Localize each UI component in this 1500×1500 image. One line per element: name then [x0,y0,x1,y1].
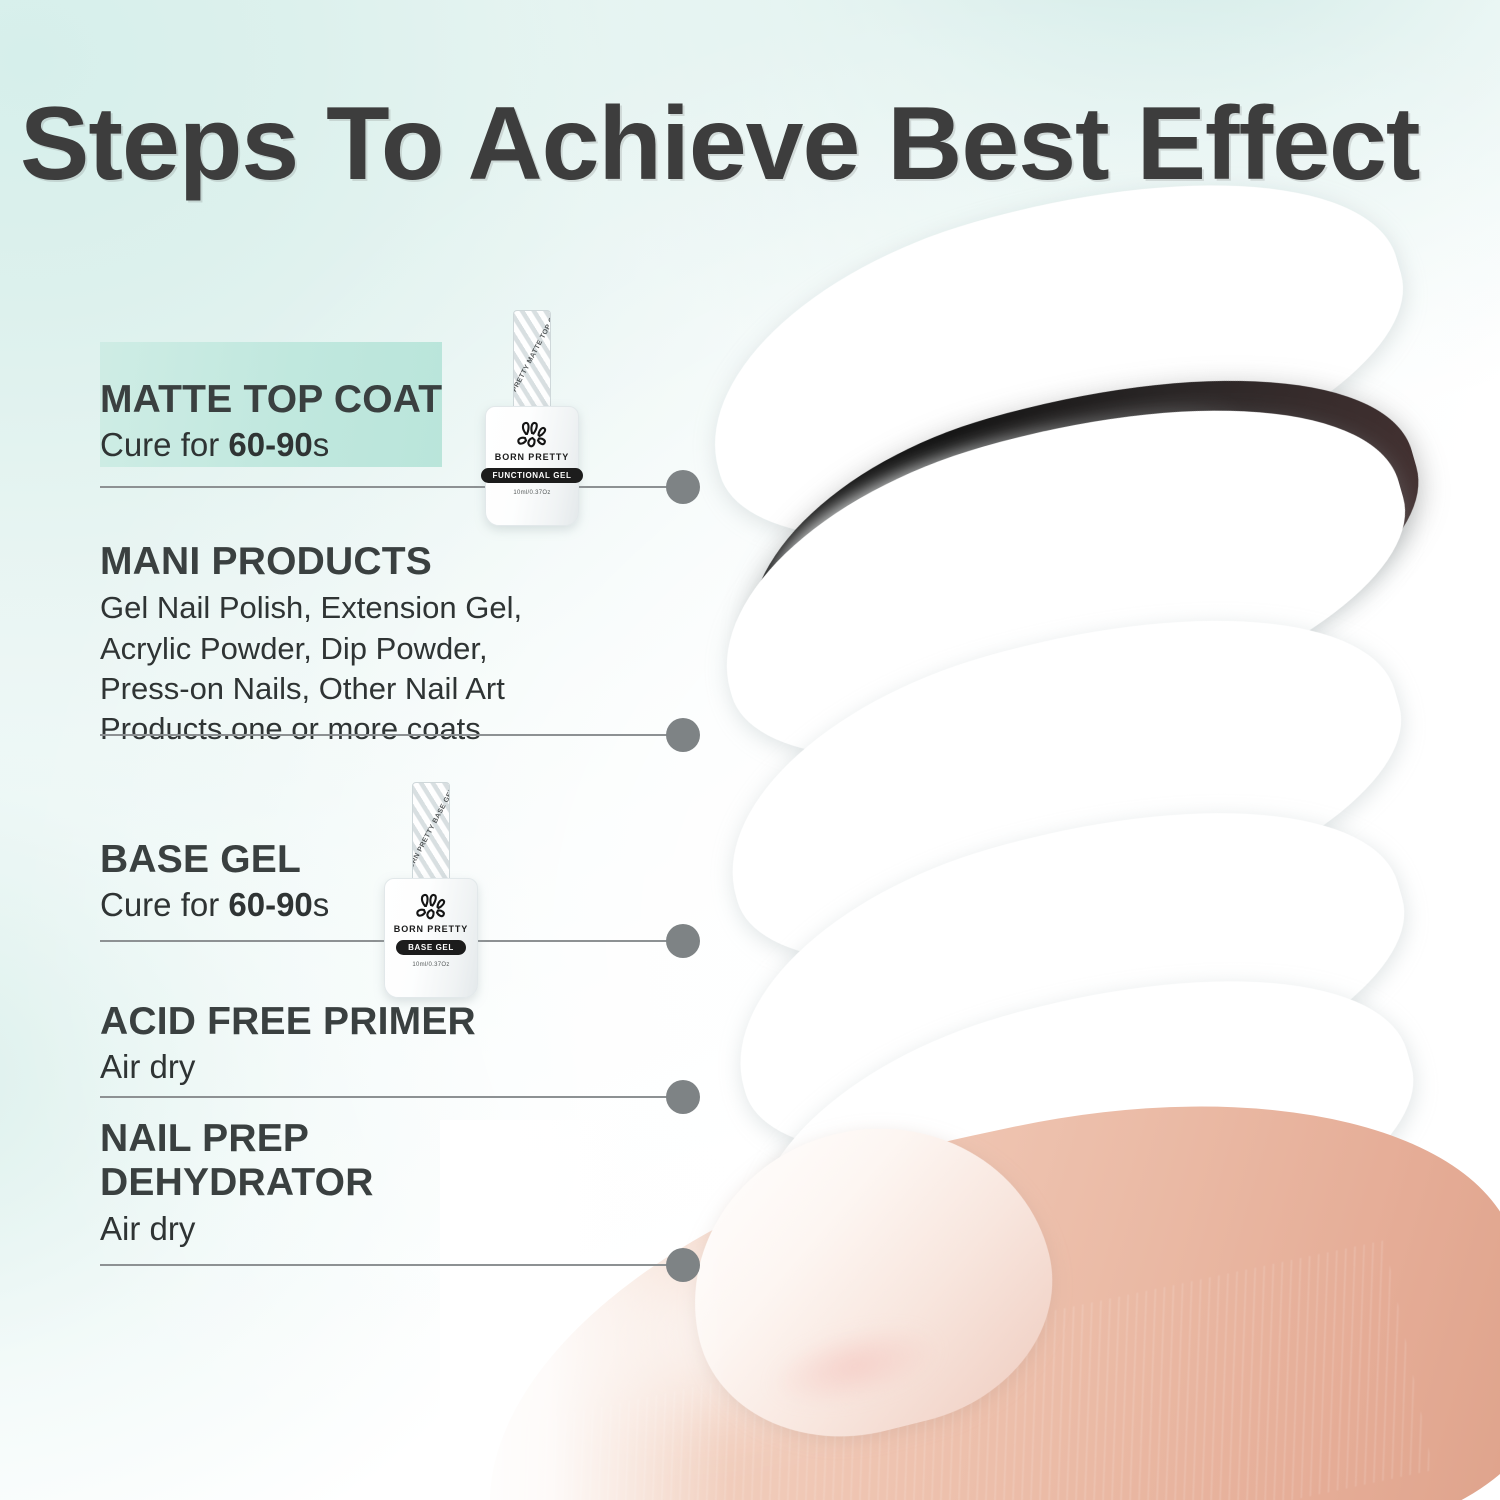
connector-matte-top-coat [100,470,700,504]
step-sub-strong: 60-90 [228,886,312,923]
connector-line [100,1096,668,1098]
connector-nail-prep-dehydrator [100,1248,700,1282]
step-matte-top-coat[interactable]: MATTE TOP COAT Cure for 60-90s [100,378,442,466]
connector-line [100,1264,668,1266]
step-heading: MATTE TOP COAT [100,378,442,422]
step-base-gel[interactable]: BASE GEL Cure for 60-90s [100,838,329,926]
step-sub-suffix: s [313,426,330,463]
bottle-cap-text: BORN PRETTY BASE GEL [412,782,450,880]
step-sub-prefix: Cure for [100,426,228,463]
born-pretty-flower-logo-icon [411,893,451,921]
step-subtext: Air dry [100,1208,374,1250]
connector-dot [666,718,700,752]
bottle-body: BORN PRETTY FUNCTIONAL GEL 10ml/0.37Oz [485,406,579,526]
step-nail-prep-dehydrator[interactable]: NAIL PREP DEHYDRATOR Air dry [100,1117,374,1249]
bottle-base-gel: BORN PRETTY BASE GEL BORN PRETTY BASE GE… [382,782,480,998]
bottle-cap: BORN PRETTY BASE GEL [412,782,450,880]
connector-acid-free-primer [100,1080,700,1114]
connector-line [100,486,668,488]
step-sub-prefix: Cure for [100,886,228,923]
born-pretty-flower-logo-icon [512,421,552,449]
connector-mani-products [100,718,700,752]
step-heading: BASE GEL [100,838,329,882]
step-acid-free-primer[interactable]: ACID FREE PRIMER Air dry [100,1000,476,1088]
infographic-page: Steps To Achieve Best Effect MATTE TOP C… [0,0,1500,1500]
connector-dot [666,924,700,958]
bottle-body: BORN PRETTY BASE GEL 10ml/0.37Oz [384,878,478,998]
connector-dot [666,1248,700,1282]
bottle-product-badge: FUNCTIONAL GEL [481,468,584,483]
connector-dot [666,470,700,504]
connector-dot [666,1080,700,1114]
bottle-cap-text: BORN PRETTY MATTE TOP COAT [513,310,551,408]
bottle-cap: BORN PRETTY MATTE TOP COAT [513,310,551,408]
step-heading: ACID FREE PRIMER [100,1000,476,1044]
step-heading: MANI PRODUCTS [100,540,522,584]
step-subtext: Cure for 60-90s [100,424,442,466]
step-sub-strong: 60-90 [228,426,312,463]
step-sub-suffix: s [313,886,330,923]
bottle-matte-top-coat: BORN PRETTY MATTE TOP COAT BORN PRETTY F… [483,310,581,526]
bottle-product-badge: BASE GEL [396,940,466,955]
step-heading: NAIL PREP DEHYDRATOR [100,1117,374,1206]
connector-line [100,734,668,736]
bottle-brand-name: BORN PRETTY [394,924,468,934]
bottle-brand-name: BORN PRETTY [495,452,569,462]
bottle-volume-text: 10ml/0.37Oz [513,490,550,496]
step-subtext: Cure for 60-90s [100,884,329,926]
bottle-volume-text: 10ml/0.37Oz [412,962,449,968]
